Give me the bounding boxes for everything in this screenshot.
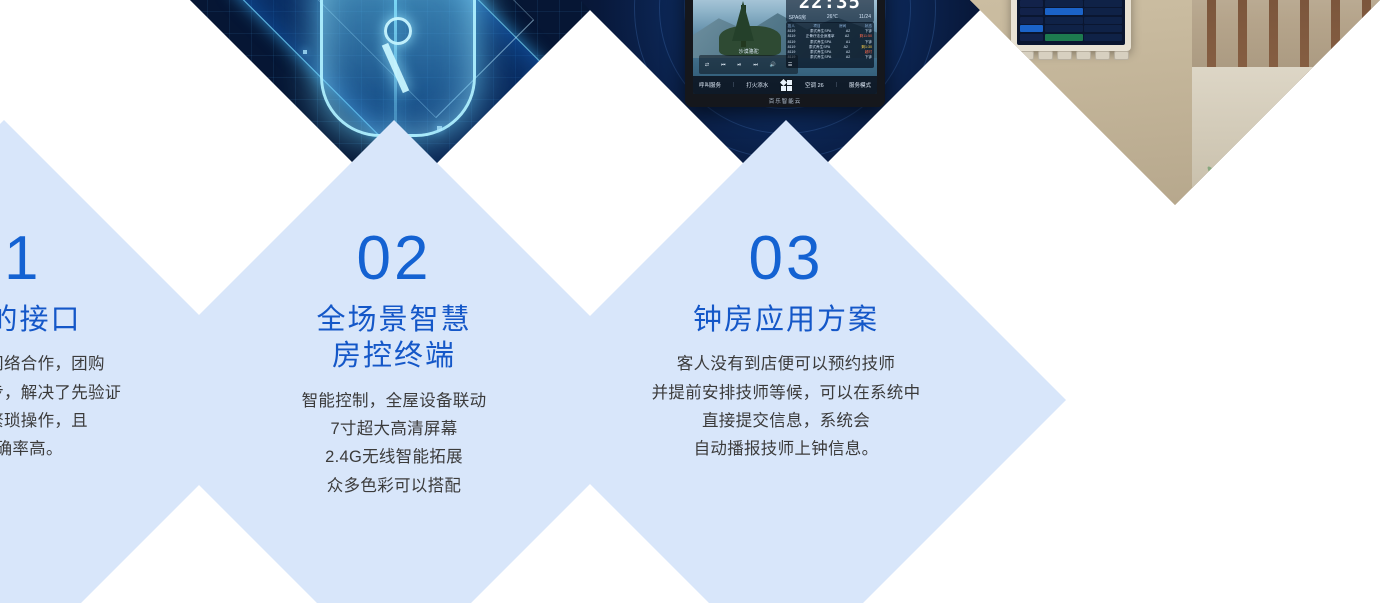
room-label: SPA6房 <box>789 14 806 21</box>
list-icon[interactable]: ☰ <box>788 62 792 68</box>
clock-time: 22:35 <box>789 0 871 12</box>
side-item-3[interactable] <box>1020 17 1042 24</box>
panel-description: 客人没有到店便可以预约技师 并提前安排技师等候，可以在系统中 直接提交信息，系统… <box>652 350 921 464</box>
wall-mounted-room-panel-photo: 客服控制 <box>970 0 1380 205</box>
panel-title-line: 钟房应用方案 <box>693 304 879 336</box>
taskbar-item-ac[interactable]: 空调 26 <box>805 81 824 89</box>
panel-desc-line: 验证和结算同步，解决了先验证 <box>0 379 122 407</box>
grid-item-1[interactable] <box>1045 0 1083 7</box>
wood-slat <box>1300 0 1309 101</box>
grid-item-3-selected[interactable] <box>1045 8 1083 15</box>
taskbar-item-call[interactable]: 呼叫服务 <box>699 81 721 89</box>
device-footer-brand: 百乐智能云 <box>685 95 885 106</box>
panel-title: 钟房应用方案 <box>693 302 879 338</box>
volume-icon[interactable]: 🔊 <box>770 62 776 68</box>
service-list-widget: 技人 项目 房间 状态 8119泰式养生SPAA2下钟8119正骨疗法全身推拿A… <box>786 22 874 68</box>
service-cell-c1: 泰式养生SPA <box>810 55 831 60</box>
grid-item-9-highlight[interactable] <box>1045 34 1083 41</box>
service-list-rows: 8119泰式养生SPAA2下钟8119正骨疗法全身推拿A2剩11:508119泰… <box>788 29 872 60</box>
tablet-screen: 22:35 SPA6房 26℃ 11/24 技人 项目 房间 <box>693 0 877 94</box>
grid-item-6[interactable] <box>1084 17 1122 24</box>
player-track-label: 沙漠骆驼 <box>699 48 798 55</box>
grid-item-2[interactable] <box>1084 0 1122 7</box>
media-player-bar: ⇄ ⏮ ⏯ ⏭ 🔊 ☰ <box>699 55 798 74</box>
wallpaper-tree <box>741 5 746 47</box>
next-icon[interactable]: ⏭ <box>753 62 758 68</box>
feature-panel-3: 03 钟房应用方案 客人没有到店便可以预约技师 并提前安排技师等候，可以在系统中… <box>506 120 1066 603</box>
image-tile-3: 客服控制 <box>970 0 1380 205</box>
hw-button-1[interactable] <box>1019 51 1034 60</box>
side-item-5[interactable] <box>1020 34 1042 41</box>
wall-panel-side-menu[interactable] <box>1020 0 1042 41</box>
service-cell-c2: A2 <box>846 55 850 60</box>
side-item-4-selected[interactable] <box>1020 25 1042 32</box>
service-cell-c3: 下钟 <box>865 55 872 60</box>
room-photo: 客服控制 <box>970 0 1380 205</box>
grid-item-4[interactable] <box>1084 8 1122 15</box>
wall-panel-service-grid[interactable] <box>1045 0 1123 41</box>
panel-title-line: 全场景智慧 <box>316 302 471 338</box>
play-icon[interactable]: ⏯ <box>737 62 741 68</box>
panel-number: 02 <box>357 228 432 290</box>
hw-button-4[interactable] <box>1076 51 1091 60</box>
panel-desc-line: 后结算的繁琐操作，且 <box>0 407 122 435</box>
wall-control-panel[interactable]: 客服控制 <box>1011 0 1131 51</box>
grid-item-5[interactable] <box>1045 17 1083 24</box>
wood-slat <box>1331 0 1340 101</box>
temperature-label: 26℃ <box>827 14 838 21</box>
hw-button-2[interactable] <box>1038 51 1053 60</box>
home-button-icon[interactable] <box>780 79 793 92</box>
panel-desc-line: 直接提交信息，系统会 <box>652 407 921 435</box>
tablet-device: CSI280 22:35 SPA6房 26℃ 11/24 <box>685 0 885 107</box>
panel-desc-line: 与多家团购网络合作，团购 <box>0 350 122 378</box>
panel-desc-line: 7寸超大高清屏幕 <box>302 415 487 443</box>
side-item-2[interactable] <box>1020 8 1042 15</box>
panel-number: 01 <box>0 228 41 290</box>
feature-diamond-banner: CSI280 22:35 SPA6房 26℃ 11/24 <box>0 0 1381 603</box>
shuffle-icon[interactable]: ⇄ <box>705 62 709 68</box>
clock-widget: 22:35 SPA6房 26℃ 11/24 <box>786 0 874 23</box>
panel-desc-line: 众多色彩可以搭配 <box>302 472 487 500</box>
wall-panel-hardware-buttons[interactable] <box>1019 51 1129 60</box>
room-background-scene <box>1192 0 1380 205</box>
taskbar-divider-1: | <box>733 82 734 88</box>
panel-title: 全场景智慧 房控终端 <box>316 302 471 375</box>
wall-panel-screen: 客服控制 <box>1017 0 1125 45</box>
taskbar-item-water[interactable]: 打火添水 <box>746 81 768 89</box>
panel-desc-line: 自动播报技师上钟信息。 <box>652 435 921 463</box>
hw-button-3[interactable] <box>1057 51 1072 60</box>
feature-panel-3-content: 03 钟房应用方案 客人没有到店便可以预约技师 并提前安排技师等候，可以在系统中… <box>588 202 984 598</box>
panel-title-line: 房控终端 <box>316 338 471 374</box>
panel-desc-line: 2.4G无线智能拓展 <box>302 443 487 471</box>
service-list-row: 8119泰式养生SPAA2下钟 <box>788 55 872 60</box>
potted-plant <box>1203 122 1273 202</box>
clock-meta: SPA6房 26℃ 11/24 <box>789 14 871 21</box>
panel-desc-line: 操作正确率高。 <box>0 435 122 463</box>
panel-description: 与多家团购网络合作，团购 验证和结算同步，解决了先验证 后结算的繁琐操作，且 操… <box>0 350 122 464</box>
panel-number: 03 <box>749 228 824 290</box>
grid-item-7[interactable] <box>1045 25 1083 32</box>
tablet-taskbar: 呼叫服务 | 打火添水 空调 26 | 服务模式 <box>693 76 877 94</box>
panel-title: 强大的接口 <box>0 302 81 338</box>
grid-item-10[interactable] <box>1084 34 1122 41</box>
hw-button-6[interactable] <box>1114 51 1129 60</box>
panel-desc-line: 客人没有到店便可以预约技师 <box>652 350 921 378</box>
wood-slat <box>1362 0 1371 101</box>
panel-description: 智能控制，全屋设备联动 7寸超大高清屏幕 2.4G无线智能拓展 众多色彩可以搭配 <box>302 387 487 501</box>
grid-item-8[interactable] <box>1084 25 1122 32</box>
taskbar-divider-2: | <box>836 82 837 88</box>
side-item-1[interactable] <box>1020 0 1042 7</box>
taskbar-item-service[interactable]: 服务模式 <box>849 81 871 89</box>
panel-desc-line: 并提前安排技师等候，可以在系统中 <box>652 379 921 407</box>
panel-desc-line: 智能控制，全屋设备联动 <box>302 387 487 415</box>
potted-plant <box>1269 147 1339 205</box>
date-label: 11/24 <box>859 14 871 21</box>
wall-panel-body <box>1020 0 1122 41</box>
hw-button-5[interactable] <box>1095 51 1110 60</box>
panel-title-line: 强大的接口 <box>0 304 82 336</box>
prev-icon[interactable]: ⏮ <box>721 62 726 68</box>
